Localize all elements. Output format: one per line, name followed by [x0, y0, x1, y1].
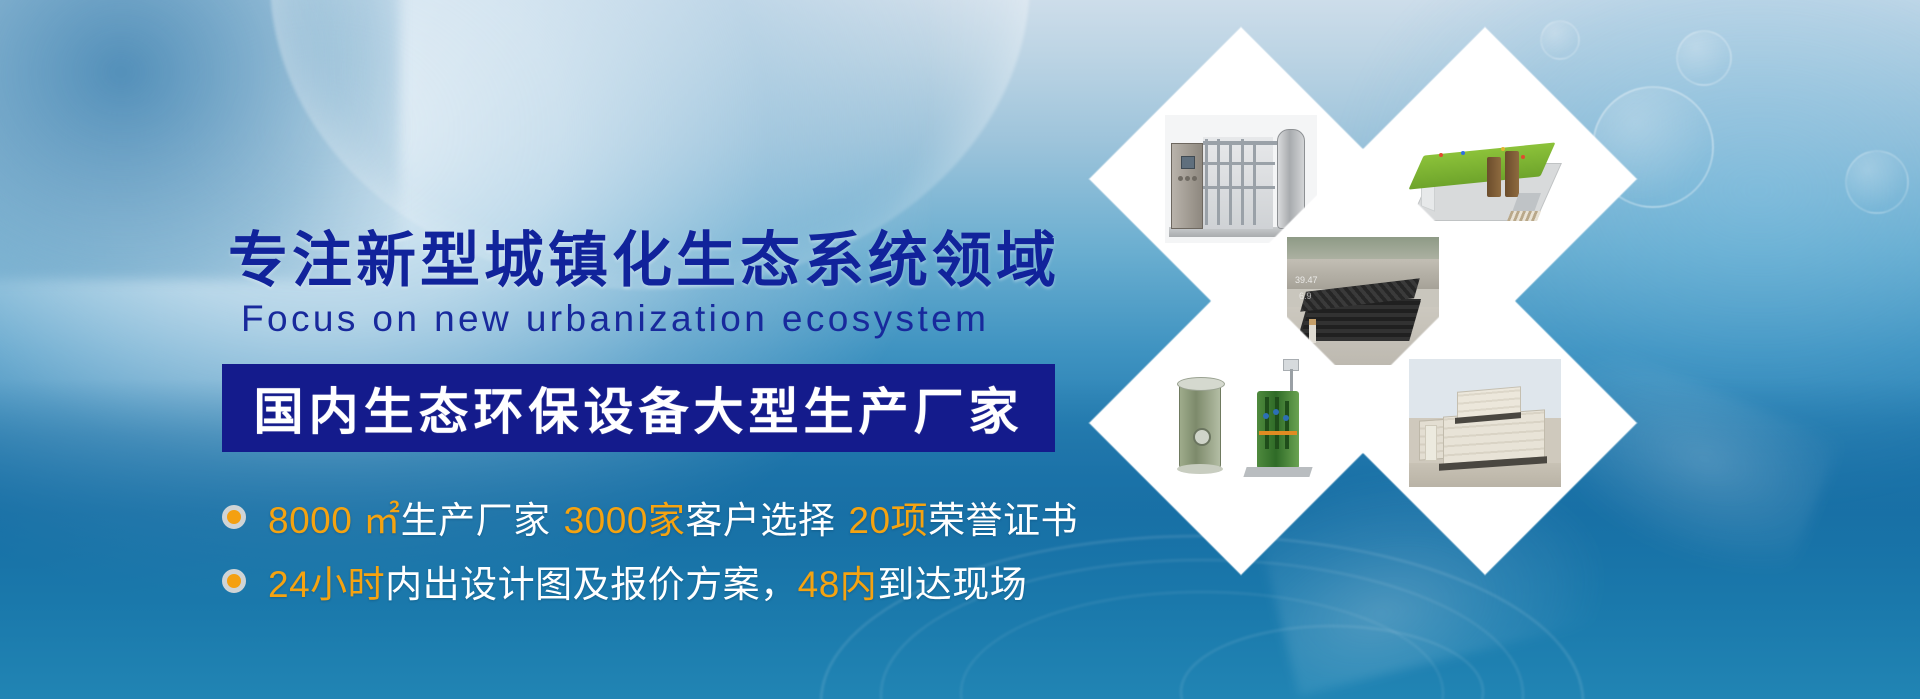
product-diamond-grid: 39.47 6.9: [1110, 48, 1710, 648]
list-item: 8000 ㎡生产厂家3000家客户选择20项荣誉证书: [222, 488, 1082, 546]
feature-bullet-list: 8000 ㎡生产厂家3000家客户选择20项荣誉证书 24小时内出设计图及报价方…: [222, 488, 1082, 616]
orange-dot-bullet-icon: [222, 569, 246, 593]
subtitle-english: Focus on new urbanization ecosystem: [241, 298, 989, 340]
page-title: 专注新型城镇化生态系统领域: [228, 212, 1060, 299]
list-item-label: 8000 ㎡生产厂家3000家客户选择20项荣誉证书: [268, 490, 1078, 544]
integrated-pump-station-image: [1165, 359, 1317, 487]
highlight-banner-text: 国内生态环保设备大型生产厂家: [254, 372, 1024, 444]
list-item-label: 24小时内出设计图及报价方案，48内到达现场: [268, 554, 1027, 608]
photo-overlay-label: 6.9: [1299, 291, 1312, 301]
list-item: 24小时内出设计图及报价方案，48内到达现场: [222, 552, 1082, 610]
orange-dot-bullet-icon: [222, 505, 246, 529]
banner-copy-block: 专注新型城镇化生态系统领域 Focus on new urbanization …: [0, 0, 1080, 699]
promo-banner: 专注新型城镇化生态系统领域 Focus on new urbanization …: [0, 0, 1920, 699]
photo-overlay-label: 39.47: [1295, 275, 1318, 285]
highlight-banner-box: 国内生态环保设备大型生产厂家: [222, 364, 1055, 452]
decorative-bubble-icon: [1845, 150, 1909, 214]
aac-alc-wall-panels-image: [1409, 359, 1561, 487]
